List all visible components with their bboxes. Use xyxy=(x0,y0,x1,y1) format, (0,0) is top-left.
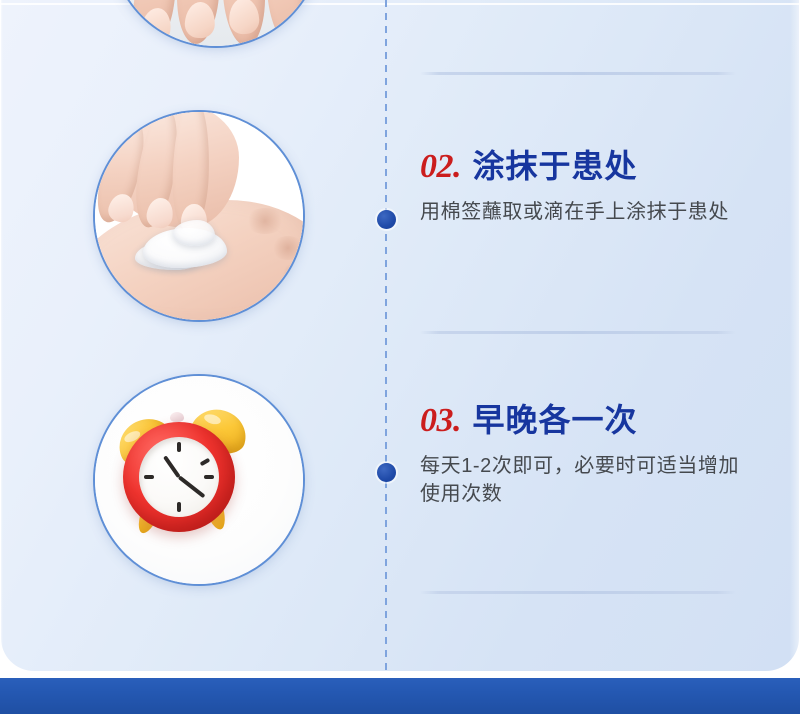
timeline-dot-step-3 xyxy=(377,463,396,482)
step-2-description: 用棉签蘸取或滴在手上涂抹于患处 xyxy=(420,198,740,226)
section-divider-middle xyxy=(420,331,736,334)
step-block-2: 02. 涂抹于患处 用棉签蘸取或滴在手上涂抹于患处 xyxy=(420,150,750,226)
step-3-number: 03. xyxy=(420,402,461,439)
instruction-steps-page: 02. 涂抹于患处 用棉签蘸取或滴在手上涂抹于患处 03. 早晚各一次 每天1-… xyxy=(0,0,800,714)
step-2-number: 02. xyxy=(420,148,461,185)
step-3-description: 每天1-2次即可，必要时可适当增加使用次数 xyxy=(420,452,740,509)
content-panel: 02. 涂抹于患处 用棉签蘸取或滴在手上涂抹于患处 03. 早晚各一次 每天1-… xyxy=(0,0,800,672)
photo-apply-cream xyxy=(95,112,303,320)
step-2-heading: 02. 涂抹于患处 xyxy=(420,150,750,184)
section-divider-top xyxy=(420,72,736,75)
photo-alarm-clock xyxy=(95,376,303,584)
step-3-title: 早晚各一次 xyxy=(472,402,637,438)
hand-cream-icon xyxy=(95,112,303,320)
step-2-title: 涂抹于患处 xyxy=(472,148,637,184)
step-block-3: 03. 早晚各一次 每天1-2次即可，必要时可适当增加使用次数 xyxy=(420,404,750,509)
step-3-heading: 03. 早晚各一次 xyxy=(420,404,750,438)
bottom-blue-band xyxy=(0,678,800,714)
left-edge-highlight xyxy=(0,0,3,672)
timeline-dashed-line xyxy=(385,0,387,672)
fingers-icon xyxy=(112,0,320,46)
timeline-dot-step-2 xyxy=(377,210,396,229)
right-edge-highlight xyxy=(790,0,800,672)
section-divider-bottom xyxy=(420,591,736,594)
photo-fingers-cropped xyxy=(112,0,320,46)
alarm-clock-icon xyxy=(95,376,303,584)
